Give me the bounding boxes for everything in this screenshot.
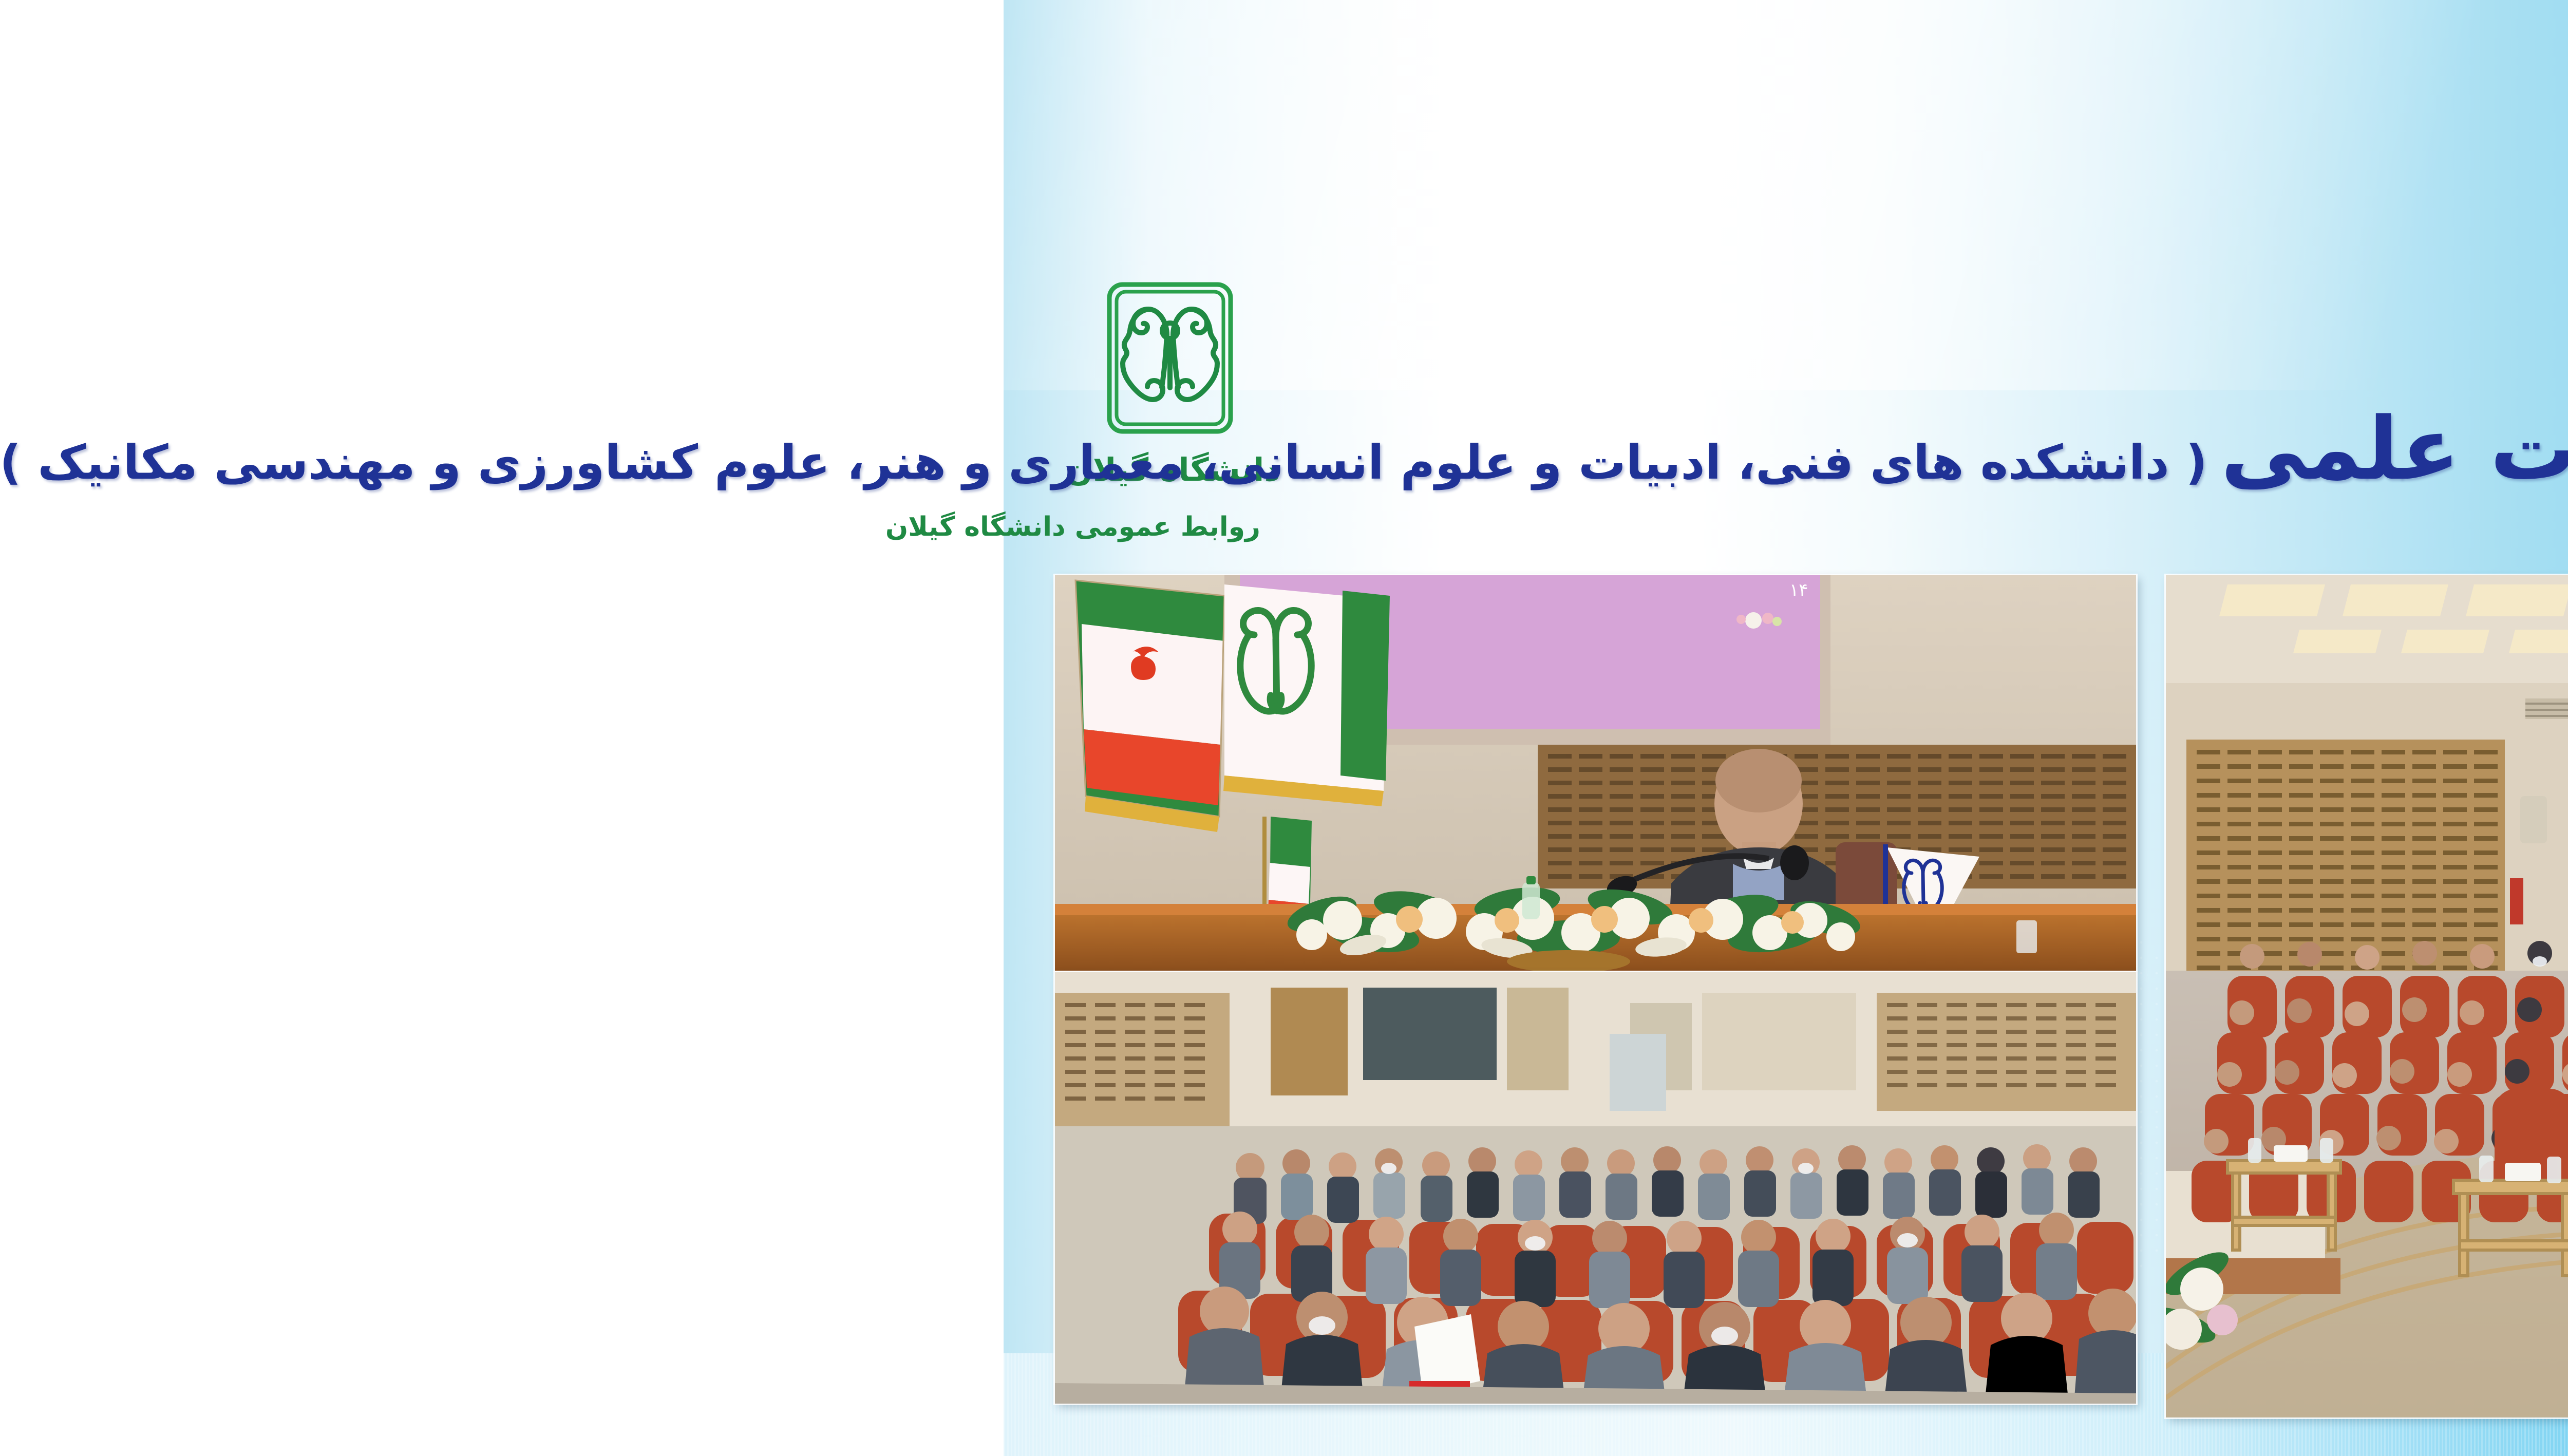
photo-left-audience — [0, 972, 40, 1404]
headline-faculties-parenthetical: ( دانشکده های فنی، ادبیات و علوم انسانی،… — [0, 439, 111, 491]
headline-main-text: نشست هم اندیشی رئیس دانشگاه با اعضای هیا… — [124, 406, 2481, 492]
photo-speaker-at-podium: ۱۴ FREEZE — [0, 575, 40, 971]
photo-main-hall-wide — [69, 575, 1482, 1417]
event-banner: دانشگاه گیلان روابط عمومی دانشگاه گیلان … — [0, 0, 2568, 1456]
photo-right-speaker-and-audience — [1500, 575, 2502, 984]
photo-right-front-rows — [1500, 985, 2502, 1404]
page-title: نشست هم اندیشی رئیس دانشگاه با اعضای هیا… — [0, 406, 2481, 492]
background-light-streak — [0, 0, 653, 390]
